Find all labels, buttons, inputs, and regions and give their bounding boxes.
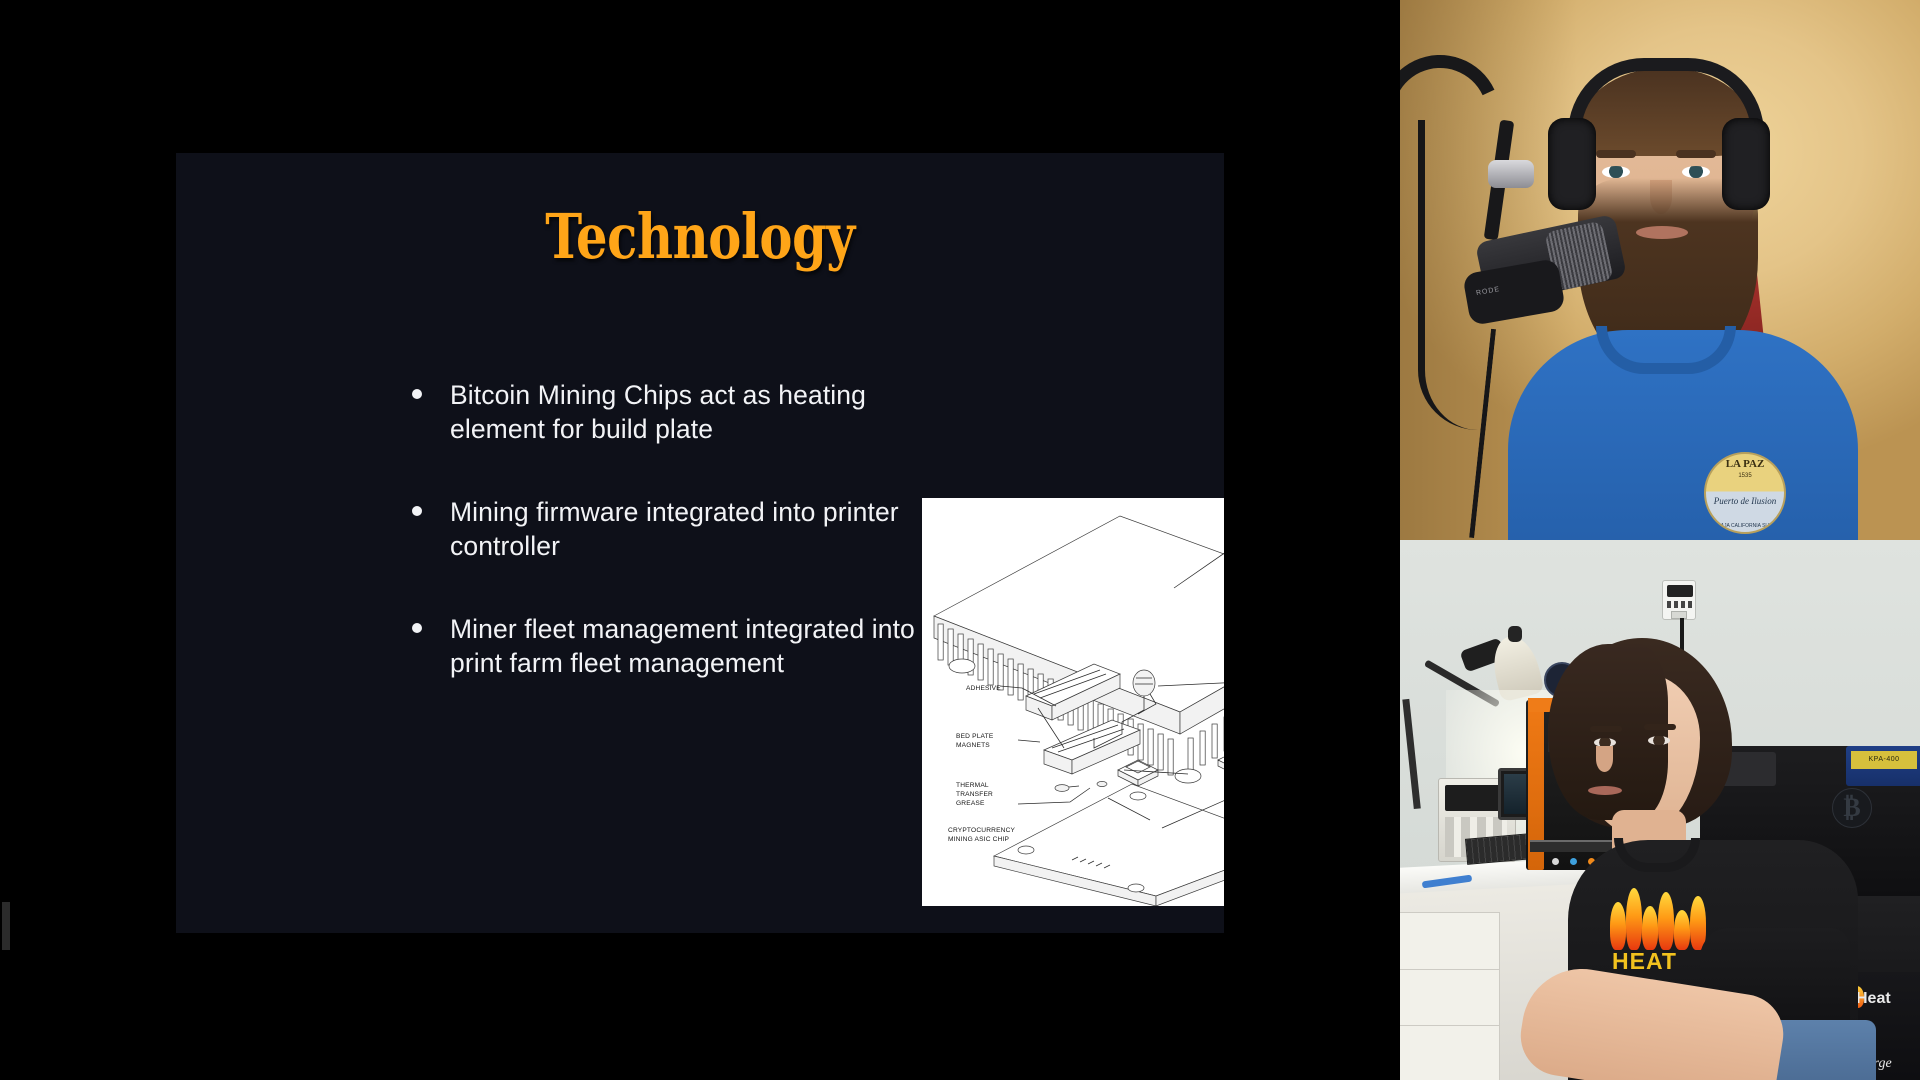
list-item: Miner fleet management integrated into p…: [408, 612, 918, 681]
printed-circuit-board: [994, 784, 1224, 906]
mic-shockmount-ring: [1488, 160, 1534, 188]
bullet-dot-icon: [412, 623, 422, 633]
shirt-logo-top-text: LA PAZ: [1706, 458, 1784, 470]
eye-right: [1682, 166, 1710, 178]
bullet-text: Mining firmware integrated into printer …: [450, 497, 899, 561]
power-monitor-buttons: [1667, 601, 1693, 608]
printer-indicator: [1570, 858, 1577, 865]
label-thermal-grease-line3: GREASE: [956, 800, 985, 807]
desk-drawer-unit: [1400, 912, 1500, 1080]
mouth: [1588, 786, 1622, 795]
label-thermal-grease-line2: TRANSFER: [956, 791, 993, 798]
slide-title: Technology: [281, 206, 1119, 268]
screen-share-region: Technology Bitcoin Mining Chips act as h…: [0, 0, 1400, 1080]
eyebrow-right: [1676, 150, 1716, 158]
power-monitor-display: [1667, 585, 1693, 597]
nose: [1596, 746, 1613, 772]
webcam-stack: LA PAZ 1535 Puerto de Ilusion BAJA CALIF…: [1400, 0, 1920, 1080]
presentation-slide[interactable]: Technology Bitcoin Mining Chips act as h…: [176, 153, 1224, 933]
camera-tile-top[interactable]: LA PAZ 1535 Puerto de Ilusion BAJA CALIF…: [1400, 0, 1920, 540]
label-asic-chip-line1: CRYPTOCURRENCY: [948, 827, 1016, 834]
headphone-earcup-left: [1548, 118, 1596, 210]
shirt-text: HEAT: [1612, 948, 1677, 975]
screen-root: Technology Bitcoin Mining Chips act as h…: [0, 0, 1920, 1080]
case-brand-text-1: Heat: [1856, 990, 1891, 1008]
label-adhesive: ADHESIVE: [966, 685, 1001, 692]
headphone-earcup-right: [1722, 118, 1770, 210]
eyebrow-right: [1644, 724, 1676, 730]
eye-left: [1602, 166, 1630, 178]
shirt-logo-mid-text: Puerto de Ilusion: [1706, 496, 1784, 506]
bullet-dot-icon: [412, 506, 422, 516]
bullet-text: Miner fleet management integrated into p…: [450, 614, 915, 678]
shirt-logo-bottom-text: BAJA CALIFORNIA SUR: [1706, 523, 1784, 529]
label-asic-chip-line2: MINING ASIC CHIP: [948, 836, 1010, 843]
printer-indicator: [1552, 858, 1559, 865]
slide-bullet-list: Bitcoin Mining Chips act as heating elem…: [408, 378, 918, 729]
label-bed-plate-line2: MAGNETS: [956, 742, 990, 749]
list-item: Bitcoin Mining Chips act as heating elem…: [408, 378, 918, 447]
bitcoin-logo-icon: ₿: [1832, 788, 1872, 828]
printer-build-plate: [1530, 840, 1614, 852]
eye-right: [1648, 736, 1670, 745]
drawer-divider: [1400, 1025, 1499, 1026]
camera-tile-bottom[interactable]: KPA-400 ₿ Heat Forge: [1400, 540, 1920, 1080]
shirt-logo-year: 1535: [1706, 473, 1784, 479]
bullet-dot-icon: [412, 389, 422, 399]
label-thermal-grease-line1: THERMAL: [956, 782, 989, 789]
bullet-text: Bitcoin Mining Chips act as heating elem…: [450, 380, 866, 444]
eyebrow-left: [1590, 726, 1622, 732]
mic-cable: [1418, 120, 1488, 430]
screen-edge-sliver: [2, 902, 10, 950]
lamp-knob: [1508, 626, 1522, 642]
list-item: Mining firmware integrated into printer …: [408, 495, 918, 564]
wall-power-monitor: [1662, 580, 1696, 620]
mouth: [1636, 226, 1688, 239]
label-bed-plate-line1: BED PLATE: [956, 733, 994, 740]
meter-display: KPA-400: [1851, 751, 1917, 769]
exploded-assembly-diagram: DUAL PURPOSE HEATBED/CHIP HEATSINK ADHES…: [922, 498, 1224, 906]
drawer-divider: [1400, 969, 1499, 970]
eyebrow-left: [1596, 150, 1636, 158]
shirt-logo-badge: LA PAZ 1535 Puerto de Ilusion BAJA CALIF…: [1704, 452, 1786, 534]
bench-meter: KPA-400: [1846, 746, 1920, 786]
